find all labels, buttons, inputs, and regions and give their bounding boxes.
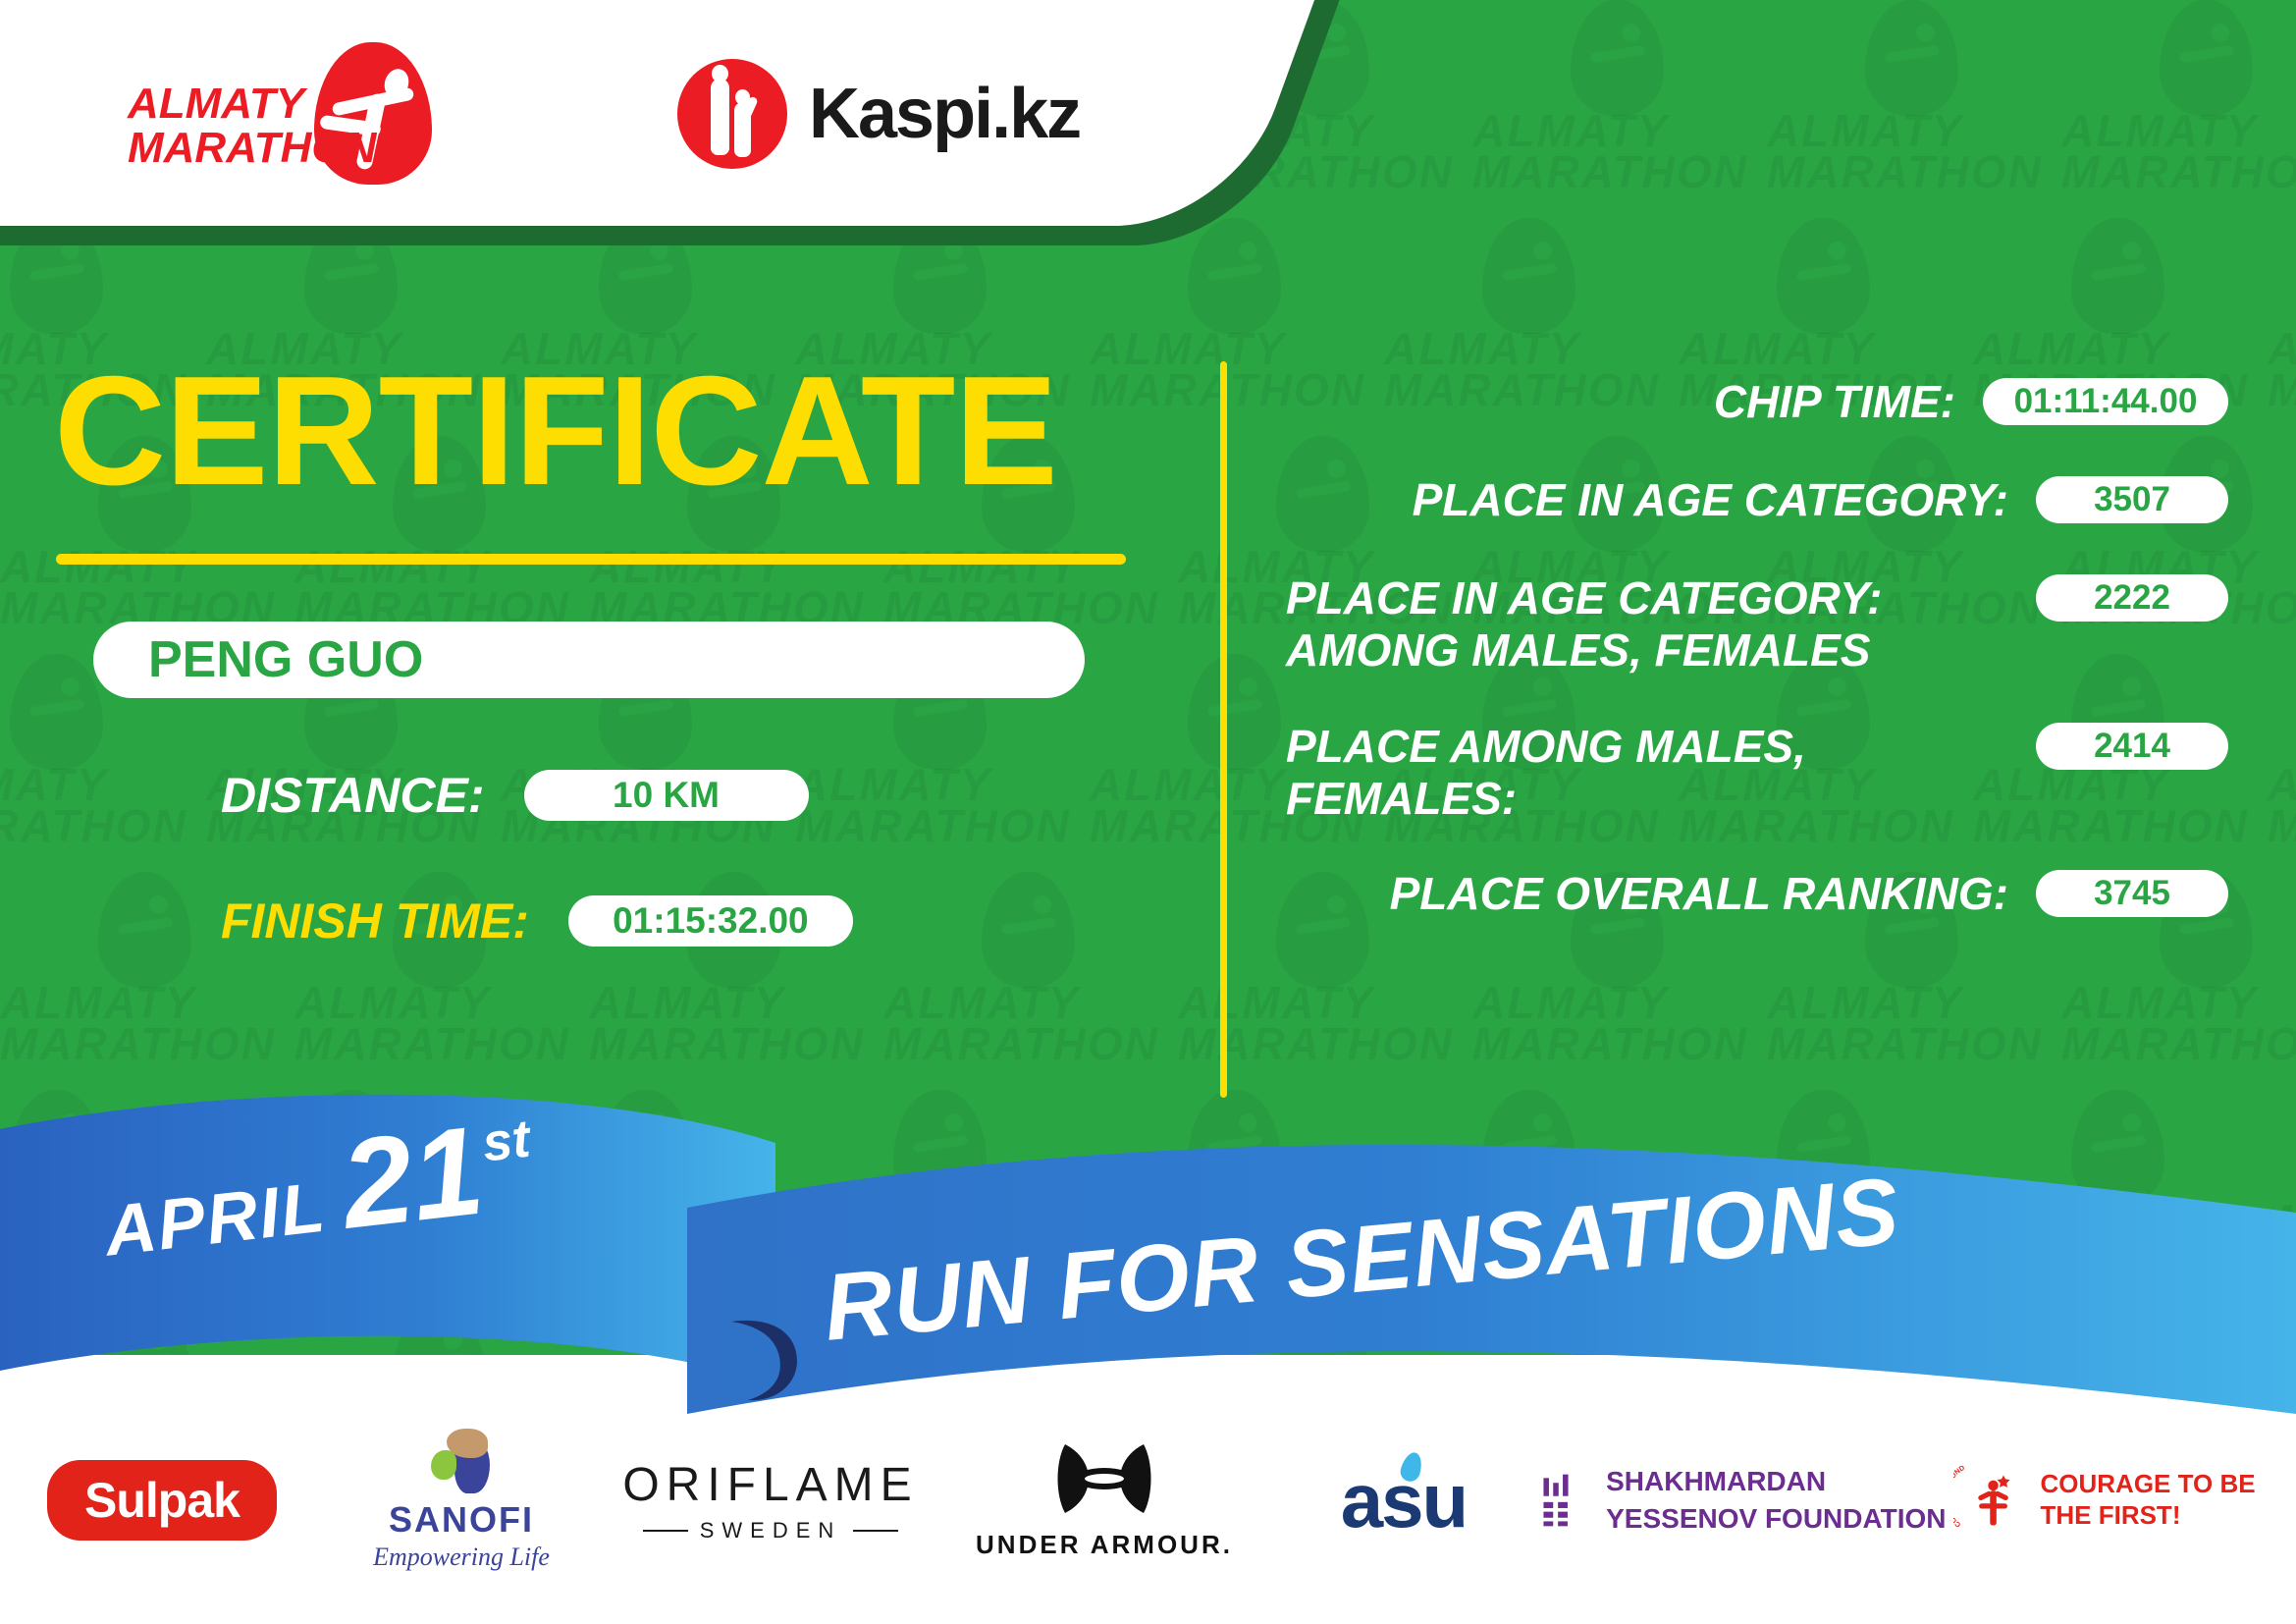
sponsor-under-armour: UNDER ARMOUR.: [942, 1432, 1266, 1569]
under-armour-logo: UNDER ARMOUR.: [976, 1440, 1233, 1560]
distance-value-pill: 10 KM: [524, 770, 809, 821]
finish-time-label: FINISH TIME:: [221, 893, 529, 949]
kaspi-logo: Kaspi.kz: [677, 59, 1080, 169]
oriflame-sub-row: SWEDEN: [622, 1518, 918, 1543]
watermark-text: ALMATYMARATHON: [883, 982, 1178, 1065]
sponsor-oriflame: ORIFLAME SWEDEN: [599, 1432, 942, 1569]
sponsor-shakhmardan-yessenov: SHAKHMARDAN YESSENOV FOUNDATION: [1541, 1432, 1953, 1569]
watermark-text: ALMATYMARATHON: [2268, 328, 2296, 411]
watermark-tile: ALMATYMARATHON: [1767, 0, 2061, 218]
asu-logo: asu: [1341, 1456, 1467, 1545]
certificate-title: CERTIFICATE: [54, 353, 1153, 509]
under-armour-label: UNDER ARMOUR.: [976, 1530, 1233, 1560]
watermark-droplet-icon: [1482, 218, 1575, 334]
sulpak-logo: Sulpak: [47, 1460, 277, 1541]
stat-value-pill: 3507: [2036, 476, 2228, 523]
sanofi-label: SANOFI: [373, 1499, 550, 1541]
corporate-fund-figure-icon: CORPORATE FUND: [1953, 1446, 2030, 1554]
kaspi-adult-figure-icon: [711, 79, 729, 155]
watermark-droplet-icon: [1865, 0, 1958, 116]
stat-label: PLACE OVERALL RANKING:: [1286, 868, 2036, 920]
sponsor-sanofi: SANOFI Empowering Life: [324, 1432, 599, 1569]
watermark-text: ALMATYMARATHON: [589, 982, 883, 1065]
stat-label: CHIP TIME:: [1286, 376, 1983, 428]
certificate-page: ALMATYMARATHONALMATYMARATHONALMATYMARATH…: [0, 0, 2296, 1624]
event-day: 21: [336, 1108, 489, 1248]
finish-time-value: 01:15:32.00: [613, 900, 809, 942]
distance-row: DISTANCE: 10 KM: [221, 767, 1153, 824]
sponsor-corporate-fund: CORPORATE FUND COURAGE TO BE THE FIRST!: [1953, 1432, 2277, 1569]
vertical-divider: [1220, 361, 1227, 1098]
yessenov-bars-icon: [1541, 1458, 1584, 1543]
stat-label: PLACE IN AGE CATEGORY:AMONG MALES, FEMAL…: [1286, 572, 2036, 677]
watermark-droplet-icon: [1777, 218, 1870, 334]
watermark-droplet-icon: [1188, 654, 1281, 770]
sponsor-sulpak: Sulpak: [0, 1432, 324, 1569]
under-armour-mark-icon: [1045, 1440, 1163, 1517]
sanofi-green-shape-icon: [431, 1450, 456, 1480]
watermark-tile: ALMATYMARATHON: [2061, 0, 2296, 218]
title-underline: [56, 554, 1126, 565]
sponsor-bar: Sulpak SANOFI Empowering Life ORIFLAME S…: [0, 1422, 2296, 1579]
watermark-text: ALMATYMARATHON: [1472, 110, 1767, 193]
oriflame-sub-label: SWEDEN: [700, 1518, 842, 1543]
finish-time-value-pill: 01:15:32.00: [568, 895, 853, 947]
marathon-line: MARATHON: [128, 127, 376, 171]
sanofi-tagline: Empowering Life: [373, 1543, 550, 1572]
watermark-text: ALMATYMARATHON: [1767, 982, 2061, 1065]
shakhmardan-yessenov-logo: SHAKHMARDAN YESSENOV FOUNDATION: [1541, 1458, 1953, 1543]
left-column: CERTIFICATE PENG GUO DISTANCE: 10 KM FIN…: [54, 353, 1153, 949]
stat-row: CHIP TIME:01:11:44.00: [1286, 376, 2228, 431]
distance-label: DISTANCE:: [221, 767, 485, 824]
event-ribbon: APRIL 21 st RUN FOR SENSATIONS: [0, 1090, 2296, 1424]
distance-value: 10 KM: [613, 775, 720, 816]
oriflame-rule-right: [853, 1530, 898, 1532]
stats-column: CHIP TIME:01:11:44.00PLACE IN AGE CATEGO…: [1286, 376, 2228, 966]
kaspi-circle-icon: [677, 59, 787, 169]
participant-name: PENG GUO: [148, 630, 423, 689]
stat-row: PLACE IN AGE CATEGORY:3507: [1286, 474, 2228, 529]
oriflame-logo: ORIFLAME SWEDEN: [622, 1458, 918, 1543]
watermark-tile: ALMATYMARATHON: [2268, 654, 2296, 872]
stat-label: PLACE IN AGE CATEGORY:: [1286, 474, 2036, 526]
stat-value-pill: 3745: [2036, 870, 2228, 917]
oriflame-label: ORIFLAME: [622, 1458, 918, 1512]
watermark-text: ALMATYMARATHON: [0, 982, 294, 1065]
stat-value: 3507: [2094, 480, 2170, 519]
sanofi-logo: SANOFI Empowering Life: [373, 1429, 550, 1572]
oriflame-rule-left: [643, 1530, 688, 1532]
watermark-text: ALMATYMARATHON: [1472, 982, 1767, 1065]
participant-name-field: PENG GUO: [93, 622, 1085, 698]
corporate-fund-logo: CORPORATE FUND COURAGE TO BE THE FIRST!: [1953, 1446, 2277, 1554]
yessenov-label: SHAKHMARDAN YESSENOV FOUNDATION: [1606, 1463, 1953, 1538]
watermark-text: ALMATYMARATHON: [294, 982, 589, 1065]
almaty-marathon-wordmark: ALMATY MARATHON: [128, 82, 376, 171]
watermark-text: ALMATYMARATHON: [1767, 110, 2061, 193]
watermark-droplet-icon: [2071, 218, 2164, 334]
stat-value: 2222: [2094, 578, 2170, 618]
watermark-text: ALMATYMARATHON: [2061, 982, 2296, 1065]
stat-value: 2414: [2094, 727, 2170, 766]
watermark-text: ALMATYMARATHON: [2268, 764, 2296, 847]
svg-text:CORPORATE FUND: CORPORATE FUND: [1953, 1463, 1966, 1530]
watermark-droplet-icon: [1571, 0, 1664, 116]
almaty-marathon-logo: ALMATY MARATHON: [128, 47, 442, 189]
stat-value-pill: 2222: [2036, 574, 2228, 622]
corporate-fund-label: COURAGE TO BE THE FIRST!: [2040, 1469, 2277, 1531]
sulpak-label: Sulpak: [84, 1473, 240, 1528]
watermark-tile: ALMATYMARATHON: [1472, 0, 1767, 218]
stat-row: PLACE IN AGE CATEGORY:AMONG MALES, FEMAL…: [1286, 572, 2228, 677]
stat-label: PLACE AMONG MALES,FEMALES:: [1286, 721, 2036, 826]
stat-value-pill: 01:11:44.00: [1983, 378, 2228, 425]
watermark-text: ALMATYMARATHON: [2061, 110, 2296, 193]
corporate-fund-arc-label: CORPORATE FUND: [1953, 1463, 1966, 1530]
stat-row: PLACE OVERALL RANKING:3745: [1286, 868, 2228, 923]
finish-time-row: FINISH TIME: 01:15:32.00: [221, 893, 1153, 949]
watermark-tile: ALMATYMARATHON: [2268, 218, 2296, 436]
sanofi-mark-icon: [425, 1429, 498, 1495]
stat-row: PLACE AMONG MALES,FEMALES:2414: [1286, 721, 2228, 826]
kaspi-wordmark: Kaspi.kz: [809, 74, 1080, 154]
almaty-line: ALMATY: [128, 82, 376, 127]
stat-value-pill: 2414: [2036, 723, 2228, 770]
stat-value: 01:11:44.00: [2014, 382, 2198, 421]
watermark-droplet-icon: [1188, 218, 1281, 334]
event-day-suffix: st: [479, 1109, 533, 1174]
sponsor-asu: asu: [1266, 1432, 1541, 1569]
stat-value: 3745: [2094, 874, 2170, 913]
kaspi-child-figure-icon: [734, 102, 751, 157]
watermark-droplet-icon: [2160, 0, 2253, 116]
